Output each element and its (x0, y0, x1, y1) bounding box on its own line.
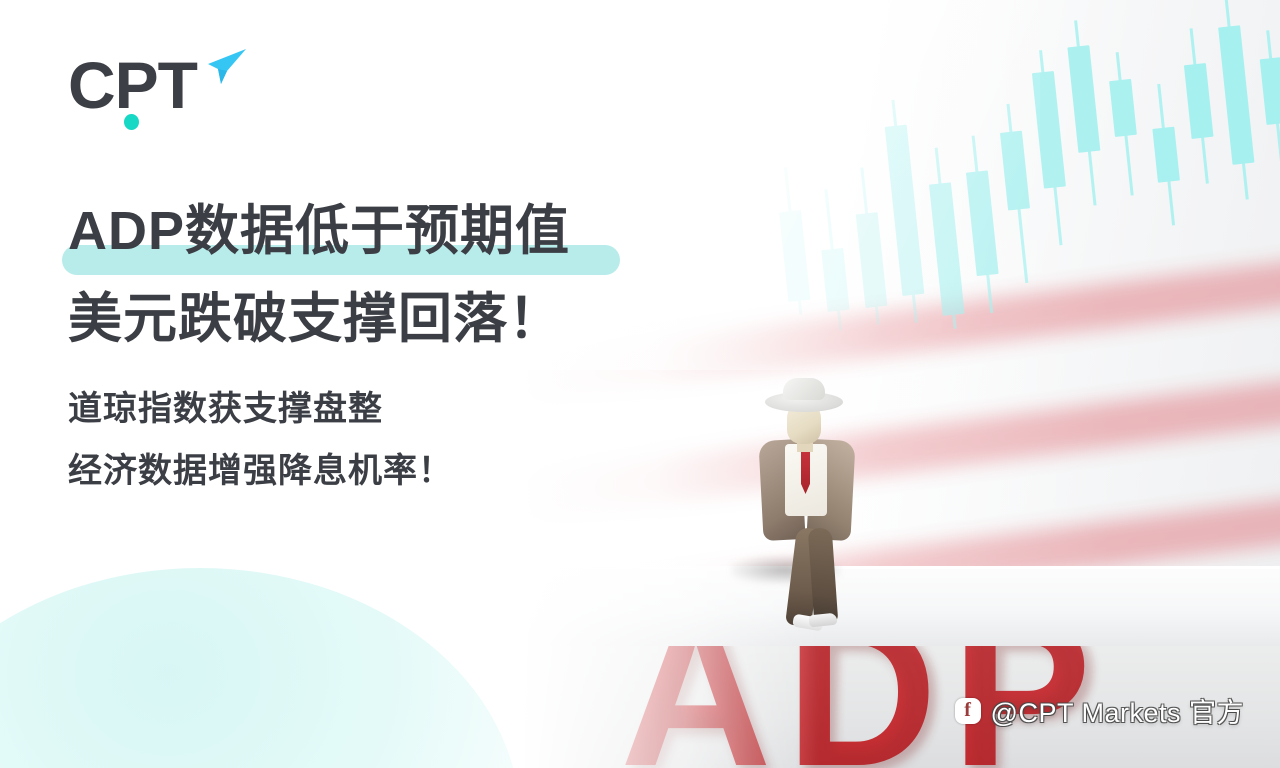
headline-row-2: 美元跌破支撑回落！ (62, 286, 682, 352)
headline-row-1: ADP数据低于预期值 (62, 198, 682, 264)
fedora-hat-crown (783, 378, 825, 400)
poster-canvas: ADP ADP CPT (0, 0, 1280, 768)
businessman-figurine (735, 378, 885, 638)
figurine-shoe-right (808, 613, 837, 628)
subheadline-line-1: 道琼指数获支撑盘整 (68, 378, 453, 440)
subheadline-block: 道琼指数获支撑盘整 经济数据增强降息机率！ (68, 378, 453, 502)
logo-wordmark: CPT (68, 52, 197, 118)
cpt-logo[interactable]: CPT (68, 52, 197, 118)
facebook-glyph: f (964, 700, 971, 720)
logo-dot-icon (124, 114, 139, 130)
headline-line-2: 美元跌破支撑回落！ (62, 286, 682, 352)
mint-blob-decoration (0, 568, 520, 768)
hero-photo: ADP ADP (520, 0, 1280, 768)
facebook-icon: f (955, 698, 981, 724)
subheadline-line-2: 经济数据增强降息机率！ (68, 440, 453, 502)
social-watermark: f @CPT Markets 官方 (955, 691, 1244, 730)
headline-line-1: ADP数据低于预期值 (62, 198, 682, 264)
paper-plane-icon (194, 46, 248, 97)
watermark-handle: @CPT Markets 官方 (991, 691, 1244, 730)
headline-block: ADP数据低于预期值 美元跌破支撑回落！ (62, 198, 682, 352)
